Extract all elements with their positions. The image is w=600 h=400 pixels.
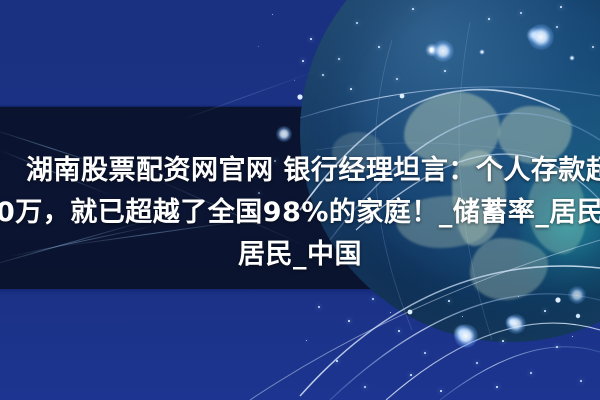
headline-line-3: 居民_中国	[0, 234, 600, 276]
headline-line-2: 0万，就已超越了全国98%的家庭！_储蓄率_居民_中	[0, 192, 600, 234]
banner-image: 湖南股票配资网官网 银行经理坦言：个人存款超过 0万，就已超越了全国98%的家庭…	[0, 0, 600, 400]
headline-line-1: 湖南股票配资网官网 银行经理坦言：个人存款超过	[26, 150, 600, 192]
headline-text: 湖南股票配资网官网 银行经理坦言：个人存款超过 0万，就已超越了全国98%的家庭…	[0, 150, 600, 276]
